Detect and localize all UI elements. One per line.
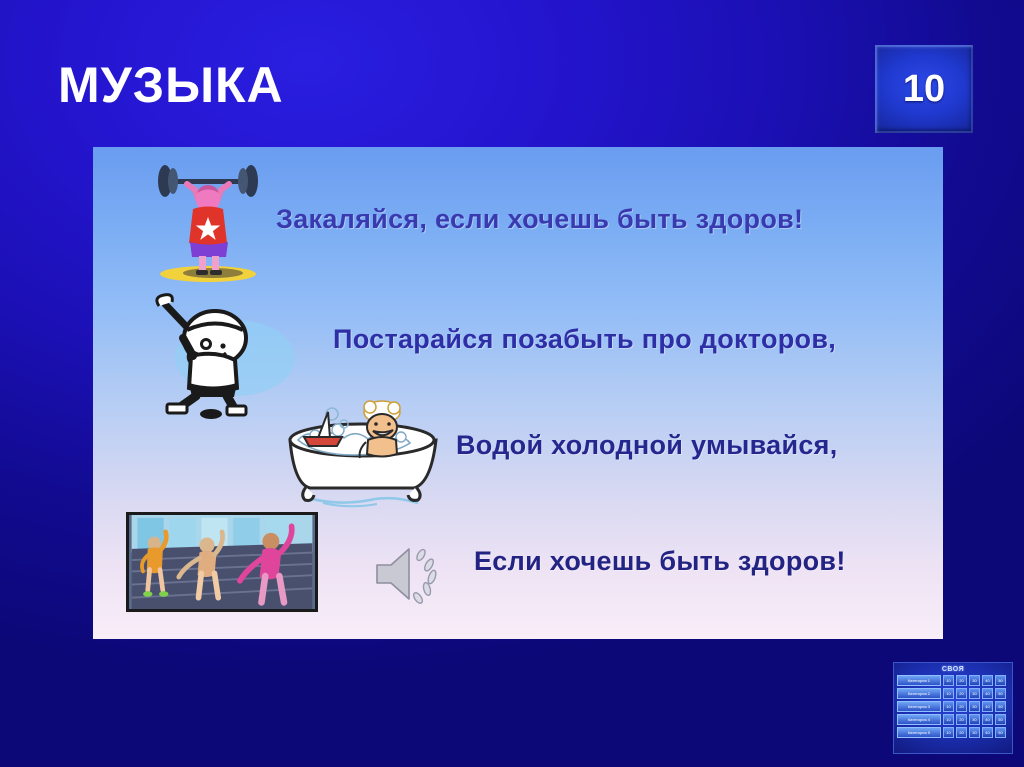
board-cell[interactable]: 40 — [982, 701, 993, 712]
board-cell[interactable]: 10 — [943, 701, 954, 712]
verse-line-2: Постарайся позабыть про докторов, — [333, 324, 836, 355]
board-category[interactable]: Категория 5 — [897, 727, 941, 738]
board-category[interactable]: Категория 4 — [897, 714, 941, 725]
verse-line-1: Закаляйся, если хочешь быть здоров! — [276, 204, 803, 235]
board-cell[interactable]: 10 — [943, 714, 954, 725]
board-cell[interactable]: 20 — [956, 675, 967, 686]
board-cell[interactable]: 40 — [982, 727, 993, 738]
weightlifter-clipart — [143, 162, 273, 287]
board-cell[interactable]: 20 — [956, 701, 967, 712]
board-cell[interactable]: 50 — [995, 675, 1006, 686]
board-grid: Категория 1 10 20 30 40 50 Категория 2 1… — [897, 675, 1009, 738]
board-cell[interactable]: 10 — [943, 727, 954, 738]
board-cell[interactable]: 30 — [969, 714, 980, 725]
board-cell[interactable]: 30 — [969, 688, 980, 699]
board-category[interactable]: Категория 3 — [897, 701, 941, 712]
game-board-thumbnail[interactable]: СВОЯ Категория 1 10 20 30 40 50 Категори… — [893, 662, 1013, 754]
board-cell[interactable]: 40 — [982, 688, 993, 699]
score-badge[interactable]: 10 — [875, 45, 973, 133]
board-cell[interactable]: 20 — [956, 688, 967, 699]
score-badge-value: 10 — [903, 70, 945, 108]
board-cell[interactable]: 50 — [995, 701, 1006, 712]
board-cell[interactable]: 30 — [969, 701, 980, 712]
board-cell[interactable]: 20 — [956, 727, 967, 738]
board-category[interactable]: Категория 2 — [897, 688, 941, 699]
board-cell[interactable]: 30 — [969, 727, 980, 738]
verse-line-4: Если хочешь быть здоров! — [474, 546, 846, 577]
board-cell[interactable]: 40 — [982, 714, 993, 725]
page-title: МУЗЫКА — [58, 60, 284, 110]
board-row[interactable]: Категория 4 10 20 30 40 50 — [897, 714, 1009, 725]
board-row[interactable]: Категория 3 10 20 30 40 50 — [897, 701, 1009, 712]
board-cell[interactable]: 10 — [943, 675, 954, 686]
board-cell[interactable]: 40 — [982, 675, 993, 686]
bathtub-clipart — [278, 390, 453, 510]
board-cell[interactable]: 30 — [969, 675, 980, 686]
board-cell[interactable]: 50 — [995, 714, 1006, 725]
board-logo: СВОЯ — [897, 666, 1009, 674]
verse-line-3: Водой холодной умывайся, — [456, 430, 838, 461]
board-cell[interactable]: 50 — [995, 727, 1006, 738]
board-cell[interactable]: 50 — [995, 688, 1006, 699]
board-row[interactable]: Категория 2 10 20 30 40 50 — [897, 688, 1009, 699]
content-panel: Закаляйся, если хочешь быть здоров! Пост… — [93, 147, 943, 639]
board-row[interactable]: Категория 5 10 20 30 40 50 — [897, 727, 1009, 738]
board-cell[interactable]: 10 — [943, 688, 954, 699]
board-cell[interactable]: 20 — [956, 714, 967, 725]
dancers-photo — [126, 512, 318, 612]
speaker-icon[interactable] — [371, 539, 449, 609]
board-row[interactable]: Категория 1 10 20 30 40 50 — [897, 675, 1009, 686]
board-category[interactable]: Категория 1 — [897, 675, 941, 686]
